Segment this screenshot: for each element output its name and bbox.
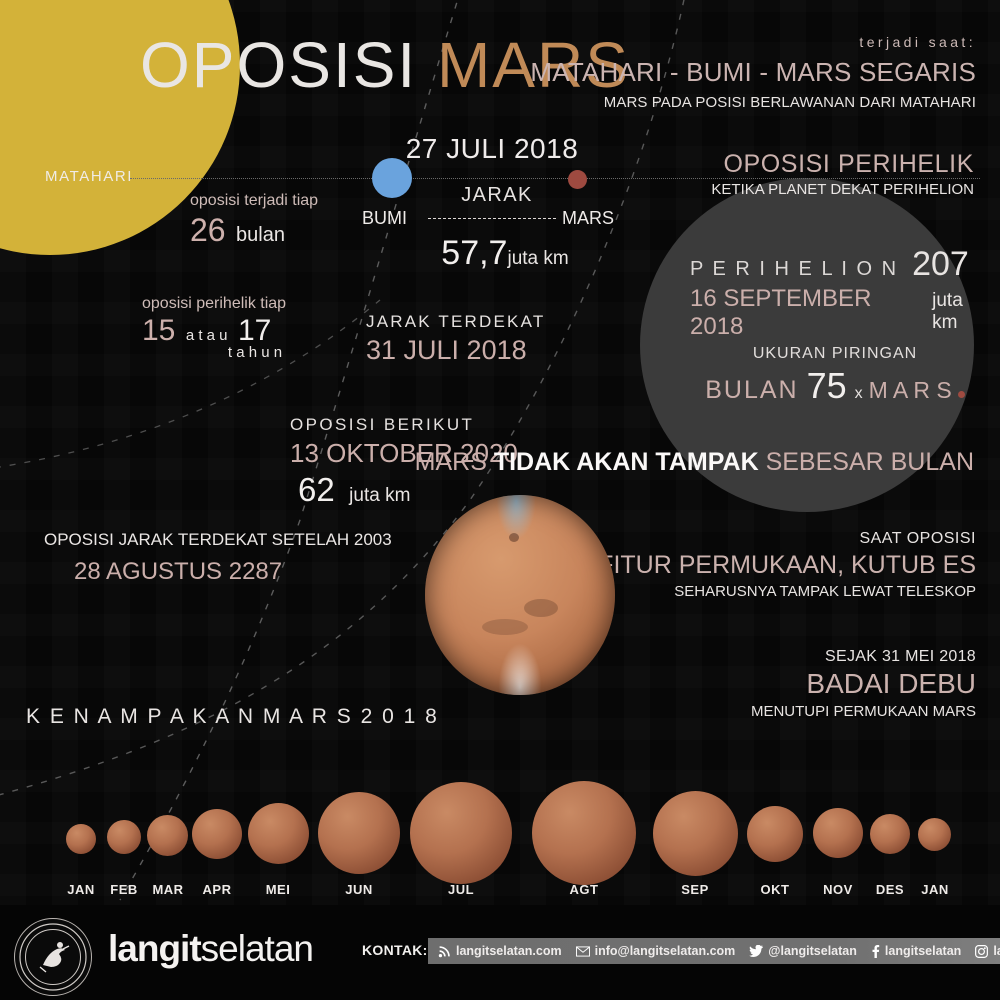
header-line-1: MATAHARI - BUMI - MARS SEGARIS (456, 57, 976, 88)
logo-badge-icon (15, 919, 91, 995)
month-disk (653, 791, 738, 876)
distance-unit: juta km (507, 248, 568, 269)
month-label: JUN (329, 882, 389, 897)
contact-instagram[interactable]: langitselatanmedia (975, 944, 1000, 958)
month-disk (147, 815, 188, 856)
mars-feature-2 (524, 599, 558, 617)
earth-label: BUMI (362, 208, 407, 229)
fact-perihelic-interval: oposisi perihelik tiap 15 a t a u 17 t a… (142, 295, 286, 361)
month-label: SEP (665, 882, 725, 897)
perihelion-value: 207 (912, 245, 969, 284)
mars-dot-icon (958, 391, 965, 398)
distance-value: 57,7 (441, 234, 507, 272)
kontak-label: KONTAK: (362, 942, 428, 958)
contact-email-text: info@langitselatan.com (595, 944, 736, 958)
contact-instagram-text: langitselatanmedia (993, 944, 1000, 958)
header-line-2: MARS PADA POSISI BERLAWANAN DARI MATAHAR… (456, 94, 976, 111)
month-disk (192, 809, 242, 859)
statement-part-1: MARS (415, 448, 494, 476)
perihelic-subheading: KETIKA PLANET DEKAT PERIHELION (414, 181, 974, 198)
disk-mars-label: M A R S (869, 377, 952, 404)
month-label: APR (187, 882, 247, 897)
disk-multiply-sign: x (855, 385, 863, 403)
contact-twitter[interactable]: @langitselatan (749, 944, 857, 958)
month-disk (918, 818, 951, 851)
header-right-block: terjadi saat: MATAHARI - BUMI - MARS SEG… (456, 34, 976, 111)
month-disk (410, 782, 512, 884)
mail-icon (576, 946, 590, 957)
langitselatan-logo[interactable] (14, 918, 92, 996)
wordmark-light: selatan (201, 928, 313, 969)
earth-marker (372, 158, 412, 198)
brand-wordmark: langitselatan (108, 928, 313, 970)
month-disk (870, 814, 910, 854)
disk-factor: 75 (807, 365, 847, 407)
mars-photo (425, 495, 615, 695)
closest-after-2003-date: 28 AGUSTUS 2287 (44, 558, 392, 586)
month-label: OKT (745, 882, 805, 897)
sun-label: MATAHARI (45, 168, 133, 185)
distance-value-block: 57,7juta km (410, 234, 600, 273)
contact-bar: langitselatan.com info@langitselatan.com… (428, 938, 1000, 964)
month-disk (813, 808, 863, 858)
contact-website[interactable]: langitselatan.com (438, 944, 562, 958)
perihelion-label: P E R I H E L I O N (690, 258, 898, 281)
month-disk (107, 820, 141, 854)
next-opposition-caption: OPOSISI BERIKUT (290, 415, 518, 435)
closest-date: 31 JULI 2018 (366, 335, 545, 366)
contact-twitter-text: @langitselatan (768, 944, 857, 958)
appearance-title: K E N A M P A K A N M A R S 2 0 1 8 (26, 705, 439, 729)
fact-opposition-interval: oposisi terjadi tiap 26 bulan (190, 192, 318, 249)
facebook-icon (871, 945, 880, 958)
fact-2-value-1: 15 (142, 314, 175, 347)
mars-size-chart: JAN FEB MAR APR MEI JUN JUL AGT SEP OKT … (0, 760, 1000, 900)
distance-ruler (428, 218, 556, 219)
perihelion-unit: juta km (932, 290, 990, 334)
month-disk (66, 824, 96, 854)
closest-after-2003-caption: OPOSISI JARAK TERDEKAT SETELAH 2003 (44, 530, 392, 550)
next-opposition-unit: juta km (349, 485, 410, 506)
fact-2-conjunction: a t a u (186, 327, 228, 344)
fact-2-caption: oposisi perihelik tiap (142, 295, 286, 313)
fact-1-unit: bulan (236, 224, 285, 246)
dust-storm-sub: MENUTUPI PERMUKAAN MARS (456, 703, 976, 720)
perihelic-heading: OPOSISI PERIHELIK (414, 150, 974, 179)
disk-moon-label: BULAN (705, 376, 798, 405)
title-part-oposisi: OPOSISI (140, 29, 417, 101)
contact-email[interactable]: info@langitselatan.com (576, 944, 736, 958)
month-label: JAN (905, 882, 965, 897)
month-label: JUL (431, 882, 491, 897)
wordmark-bold: langit (108, 928, 201, 969)
fact-1-caption: oposisi terjadi tiap (190, 192, 318, 210)
mars-feature-1 (509, 533, 519, 542)
month-label: NOV (808, 882, 868, 897)
fact-2-value-2: 17 (238, 314, 271, 347)
closest-caption: JARAK TERDEKAT (366, 312, 545, 332)
rss-icon (438, 945, 451, 958)
month-disk (532, 781, 636, 885)
statement-part-3: SEBESAR BULAN (759, 448, 974, 476)
contact-facebook-text: langitselatan (885, 944, 961, 958)
moon-comparison-statement: MARS TIDAK AKAN TAMPAK SEBESAR BULAN (354, 448, 974, 477)
closest-approach-block: JARAK TERDEKAT 31 JULI 2018 (366, 312, 545, 366)
month-disk (318, 792, 400, 874)
month-disk (248, 803, 309, 864)
infographic-poster: MATAHARI OPOSISI MARS terjadi saat: MATA… (0, 0, 1000, 1000)
mars-feature-3 (482, 619, 528, 635)
perihelion-date: 16 SEPTEMBER 2018 (690, 285, 918, 341)
perihelic-heading-block: OPOSISI PERIHELIK KETIKA PLANET DEKAT PE… (414, 150, 974, 198)
perihelion-block: P E R I H E L I O N 207 16 SEPTEMBER 201… (690, 245, 990, 341)
closest-after-2003-block: OPOSISI JARAK TERDEKAT SETELAH 2003 28 A… (44, 530, 392, 586)
contact-website-text: langitselatan.com (456, 944, 562, 958)
month-label: AGT (554, 882, 614, 897)
instagram-icon (975, 945, 988, 958)
month-disk (747, 806, 803, 862)
contact-facebook[interactable]: langitselatan (871, 944, 961, 958)
disk-size-caption: UKURAN PIRINGAN (690, 345, 980, 363)
next-opposition-value: 62 (298, 471, 335, 508)
disk-size-block: UKURAN PIRINGAN BULAN 75 x M A R S (690, 345, 980, 407)
twitter-icon (749, 945, 763, 957)
fact-1-value: 26 (190, 212, 226, 248)
header-kicker: terjadi saat: (456, 34, 976, 50)
month-label: MEI (248, 882, 308, 897)
statement-part-2: TIDAK AKAN TAMPAK (494, 448, 759, 476)
mars-label: MARS (562, 208, 614, 229)
